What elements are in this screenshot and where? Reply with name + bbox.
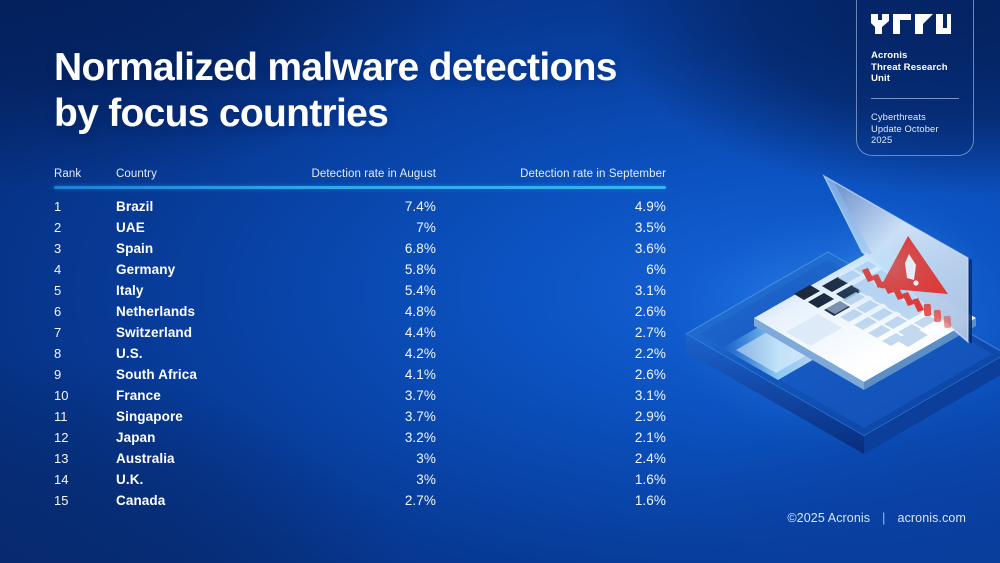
- tru-report-line-3: 2025: [871, 134, 959, 146]
- laptop-malware-alert-illustration: [676, 166, 1000, 428]
- tru-logo-icon: [871, 14, 959, 39]
- copyright-text: ©2025 Acronis: [787, 511, 870, 525]
- cell-august: 5.4%: [306, 283, 436, 298]
- table-row: 2UAE7%3.5%: [54, 217, 666, 238]
- cell-rank: 13: [54, 451, 116, 466]
- cell-rank: 15: [54, 493, 116, 508]
- cell-august: 4.8%: [306, 304, 436, 319]
- cell-rank: 10: [54, 388, 116, 403]
- cell-country: Singapore: [116, 409, 306, 424]
- footer-separator: |: [882, 511, 885, 525]
- cell-august: 4.1%: [306, 367, 436, 382]
- cell-country: Australia: [116, 451, 306, 466]
- cell-september: 6%: [436, 262, 666, 277]
- column-header-september: Detection rate in September: [436, 168, 666, 180]
- table-row: 13Australia3%2.4%: [54, 448, 666, 469]
- column-header-august: Detection rate in August: [306, 168, 436, 180]
- cell-rank: 1: [54, 199, 116, 214]
- cell-rank: 11: [54, 409, 116, 424]
- cell-september: 3.1%: [436, 388, 666, 403]
- tru-org-line-3: Unit: [871, 73, 959, 85]
- column-header-country: Country: [116, 168, 306, 180]
- cell-rank: 8: [54, 346, 116, 361]
- cell-september: 2.2%: [436, 346, 666, 361]
- tru-badge-card: Acronis Threat Research Unit Cyberthreat…: [856, 0, 974, 156]
- cell-august: 5.8%: [306, 262, 436, 277]
- cell-september: 2.6%: [436, 367, 666, 382]
- cell-august: 4.2%: [306, 346, 436, 361]
- cell-september: 1.6%: [436, 493, 666, 508]
- cell-country: Germany: [116, 262, 306, 277]
- tru-org-name: Acronis Threat Research Unit: [871, 50, 959, 85]
- cell-september: 3.1%: [436, 283, 666, 298]
- cell-country: UAE: [116, 220, 306, 235]
- cell-country: Italy: [116, 283, 306, 298]
- cell-rank: 2: [54, 220, 116, 235]
- cell-rank: 5: [54, 283, 116, 298]
- cell-august: 7%: [306, 220, 436, 235]
- cell-august: 3.2%: [306, 430, 436, 445]
- page-title-line-1: Normalized malware detections: [54, 46, 617, 89]
- table-row: 15Canada2.7%1.6%: [54, 490, 666, 511]
- cell-september: 2.4%: [436, 451, 666, 466]
- cell-country: Canada: [116, 493, 306, 508]
- cell-country: Japan: [116, 430, 306, 445]
- table-row: 8U.S.4.2%2.2%: [54, 343, 666, 364]
- cell-country: France: [116, 388, 306, 403]
- cell-rank: 12: [54, 430, 116, 445]
- tru-report-line-1: Cyberthreats: [871, 111, 959, 123]
- tru-report-label: Cyberthreats Update October 2025: [871, 111, 959, 146]
- cell-august: 6.8%: [306, 241, 436, 256]
- page-title: Normalized malware detections by focus c…: [54, 45, 617, 137]
- table-row: 9South Africa4.1%2.6%: [54, 364, 666, 385]
- cell-country: South Africa: [116, 367, 306, 382]
- cell-country: Spain: [116, 241, 306, 256]
- cell-august: 3.7%: [306, 409, 436, 424]
- cell-rank: 14: [54, 472, 116, 487]
- cell-rank: 7: [54, 325, 116, 340]
- tru-card-divider: [871, 98, 959, 99]
- table-body: 1Brazil7.4%4.9%2UAE7%3.5%3Spain6.8%3.6%4…: [54, 196, 666, 511]
- detections-table: Rank Country Detection rate in August De…: [54, 160, 666, 511]
- table-row: 4Germany5.8%6%: [54, 259, 666, 280]
- page-title-line-2: by focus countries: [54, 91, 617, 137]
- table-header-divider: [54, 186, 666, 189]
- table-row: 6Netherlands4.8%2.6%: [54, 301, 666, 322]
- cell-august: 7.4%: [306, 199, 436, 214]
- cell-country: U.S.: [116, 346, 306, 361]
- tru-report-line-2: Update October: [871, 123, 959, 135]
- table-row: 14U.K.3%1.6%: [54, 469, 666, 490]
- column-header-rank: Rank: [54, 168, 116, 180]
- tru-org-line-1: Acronis: [871, 50, 959, 62]
- table-row: 10France3.7%3.1%: [54, 385, 666, 406]
- table-header-row: Rank Country Detection rate in August De…: [54, 160, 666, 180]
- cell-september: 3.5%: [436, 220, 666, 235]
- cell-rank: 3: [54, 241, 116, 256]
- cell-september: 3.6%: [436, 241, 666, 256]
- cell-august: 4.4%: [306, 325, 436, 340]
- tru-org-line-2: Threat Research: [871, 62, 959, 74]
- table-row: 7Switzerland4.4%2.7%: [54, 322, 666, 343]
- cell-september: 1.6%: [436, 472, 666, 487]
- footer: ©2025 Acronis | acronis.com: [787, 511, 966, 525]
- table-row: 12Japan3.2%2.1%: [54, 427, 666, 448]
- cell-country: Switzerland: [116, 325, 306, 340]
- cell-september: 2.1%: [436, 430, 666, 445]
- cell-august: 3%: [306, 472, 436, 487]
- website-link[interactable]: acronis.com: [898, 511, 966, 525]
- cell-august: 3%: [306, 451, 436, 466]
- cell-country: U.K.: [116, 472, 306, 487]
- cell-country: Netherlands: [116, 304, 306, 319]
- cell-rank: 9: [54, 367, 116, 382]
- cell-rank: 6: [54, 304, 116, 319]
- cell-september: 4.9%: [436, 199, 666, 214]
- cell-september: 2.9%: [436, 409, 666, 424]
- cell-september: 2.6%: [436, 304, 666, 319]
- table-row: 11Singapore3.7%2.9%: [54, 406, 666, 427]
- cell-country: Brazil: [116, 199, 306, 214]
- cell-rank: 4: [54, 262, 116, 277]
- table-row: 1Brazil7.4%4.9%: [54, 196, 666, 217]
- cell-august: 3.7%: [306, 388, 436, 403]
- table-row: 3Spain6.8%3.6%: [54, 238, 666, 259]
- table-row: 5Italy5.4%3.1%: [54, 280, 666, 301]
- cell-september: 2.7%: [436, 325, 666, 340]
- cell-august: 2.7%: [306, 493, 436, 508]
